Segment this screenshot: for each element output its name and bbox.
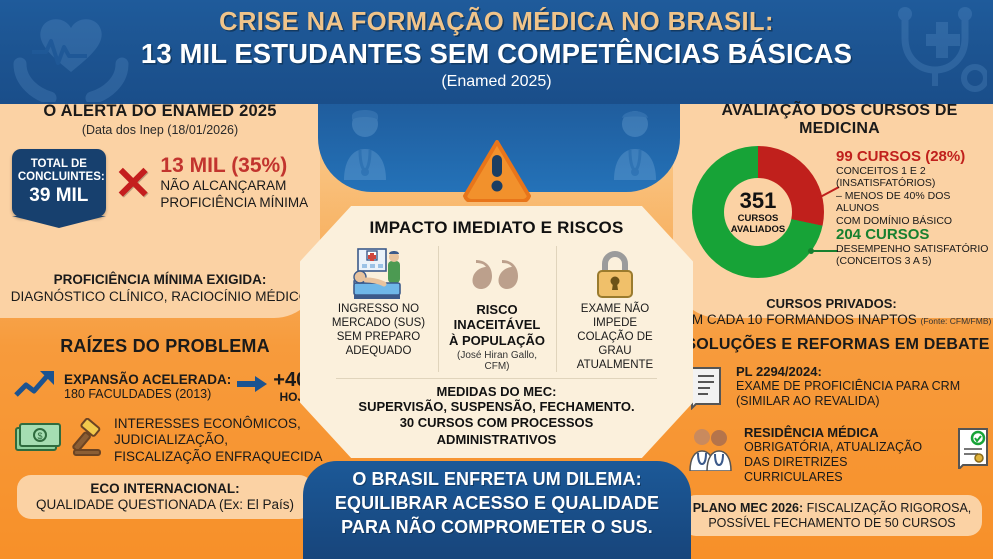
plano-strong: PLANO MEC 2026: <box>693 501 803 515</box>
proficiencia-body: DIAGNÓSTICO CLÍNICO, RACIOCÍNIO MÉDICO <box>0 289 320 304</box>
ingresso-line1: INGRESSO NO <box>325 302 433 316</box>
eco-body: QUALIDADE QUESTIONADA (Ex: El País) <box>25 497 305 512</box>
conclusion-line3: PARA NÃO COMPROMETER O SUS. <box>303 516 691 540</box>
pl-line2: (SIMILAR AO REVALIDA) <box>736 394 960 409</box>
legend-green-label: 204 CURSOS <box>836 226 988 243</box>
raizes-expansao-row: EXPANSÃO ACELERADA: 180 FACULDADES (2013… <box>0 367 330 406</box>
risco-line3: À POPULAÇÃO <box>444 333 551 348</box>
proficiencia-title: PROFICIÊNCIA MÍNIMA EXIGIDA: <box>0 272 320 287</box>
donut-red-marker <box>810 188 816 194</box>
eco-internacional-pill: ECO INTERNACIONAL: QUALIDADE QUESTIONADA… <box>17 475 313 519</box>
total-concluintes-badge: TOTAL DE CONCLUINTES: 39 MIL <box>12 149 106 217</box>
conclusion-banner: O BRASIL ENFRETA UM DILEMA: EQUILIBRAR A… <box>303 461 691 559</box>
impacto-col-risco: RISCO INACEITÁVEL À POPULAÇÃO (José Hira… <box>438 246 556 372</box>
mec-line1: SUPERVISÃO, SUSPENSÃO, FECHAMENTO. <box>314 399 679 415</box>
risco-cite: (José Hiran Gallo, CFM) <box>444 350 551 372</box>
ingresso-line4: ADEQUADO <box>325 344 433 358</box>
impacto-col-exame: EXAME NÃO IMPEDE COLAÇÃO DE GRAU ATUALME… <box>556 246 674 372</box>
cursos-privados-block: CURSOS PRIVADOS: 4 EM CADA 10 FORMANDOS … <box>670 296 993 327</box>
alerta-source: (Data dos Inep (18/01/2026) <box>0 123 320 137</box>
pl-line1: EXAME DE PROFICIÊNCIA PARA CRM <box>736 379 960 394</box>
padlock-icon <box>562 246 669 302</box>
alerta-stat-row: TOTAL DE CONCLUINTES: 39 MIL ✕ 13 MIL (3… <box>0 149 320 217</box>
avaliacao-heading: AVALIAÇÃO DOS CURSOS DE MEDICINA <box>670 102 993 138</box>
impacto-heading: IMPACTO IMEDIATO E RISCOS <box>314 218 679 238</box>
mec-title: MEDIDAS DO MEC: <box>314 384 679 399</box>
badge-value: 39 MIL <box>18 185 100 207</box>
interesses-line2: JUDICIALIZAÇÃO, <box>114 432 323 448</box>
donut-total-value: 351 <box>740 190 777 212</box>
legend-green-note1: DESEMPENHO SATISFATÓRIO <box>836 243 988 255</box>
solucao-residencia-text: RESIDÊNCIA MÉDICA OBRIGATÓRIA, ATUALIZAÇ… <box>744 425 947 485</box>
residencia-line2: DAS DIRETRIZES CURRICULARES <box>744 455 947 485</box>
eco-title: ECO INTERNACIONAL: <box>25 481 305 496</box>
section-alerta-enamed: O ALERTA DO ENAMED 2025 (Data dos Inep (… <box>0 102 320 217</box>
warning-triangle-icon <box>463 140 531 207</box>
ingresso-line3: SEM PREPARO <box>325 330 433 344</box>
page-title-line1: CRISE NA FORMAÇÃO MÉDICA NO BRASIL: <box>0 8 993 36</box>
alerta-highlight-sub2: PROFICIÊNCIA MÍNIMA <box>160 195 308 211</box>
page-title-line2: 13 MIL ESTUDANTES SEM COMPETÊNCIAS BÁSIC… <box>0 38 993 70</box>
raizes-expansao-text: EXPANSÃO ACELERADA: 180 FACULDADES (2013… <box>64 372 231 401</box>
raizes-interesses-row: $ INTERESSES ECONÔMICOS, JUDICIALIZAÇÃO,… <box>0 416 330 465</box>
donut-green-leader-line <box>812 250 838 252</box>
section-impacto-riscos: IMPACTO IMEDIATO E RISCOS <box>300 206 693 458</box>
raizes-heading: RAÍZES DO PROBLEMA <box>0 336 330 357</box>
gavel-icon <box>68 418 108 463</box>
plano-line2: POSSÍVEL FECHAMENTO DE 50 CURSOS <box>690 516 974 530</box>
conclusion-line2: EQUILIBRAR ACESSO E QUALIDADE <box>303 492 691 516</box>
donut-total-label2: AVALIADOS <box>731 224 786 235</box>
header-banner: CRISE NA FORMAÇÃO MÉDICA NO BRASIL: 13 M… <box>0 0 993 104</box>
interesses-line3: FISCALIZAÇÃO ENFRAQUECIDA <box>114 449 323 465</box>
right-arrow-icon <box>237 376 267 397</box>
medidas-mec-block: MEDIDAS DO MEC: SUPERVISÃO, SUSPENSÃO, F… <box>314 384 679 448</box>
alerta-heading: O ALERTA DO ENAMED 2025 <box>0 102 320 121</box>
section-proficiencia: PROFICIÊNCIA MÍNIMA EXIGIDA: DIAGNÓSTICO… <box>0 272 320 304</box>
legend-red-label: 99 CURSOS (28%) <box>836 148 993 165</box>
money-bills-icon: $ <box>14 418 62 463</box>
legend-red-note2: (INSATISFATÓRIOS) <box>836 177 993 189</box>
svg-text:$: $ <box>37 431 42 441</box>
raizes-interesses-text: INTERESSES ECONÔMICOS, JUDICIALIZAÇÃO, F… <box>114 416 323 465</box>
alerta-highlight: 13 MIL (35%) <box>160 155 308 177</box>
infographic-root: CRISE NA FORMAÇÃO MÉDICA NO BRASIL: 13 M… <box>0 0 993 559</box>
section-solucoes-reformas: SOLUÇÕES E REFORMAS EM DEBATE PL 2294/20… <box>670 336 993 536</box>
residencia-title: RESIDÊNCIA MÉDICA <box>744 425 947 440</box>
interesses-line1: INTERESSES ECONÔMICOS, <box>114 416 323 432</box>
solucao-item-residencia: RESIDÊNCIA MÉDICA OBRIGATÓRIA, ATUALIZAÇ… <box>670 425 993 485</box>
exame-line2: COLAÇÃO DE GRAU <box>562 330 669 358</box>
female-doctor-silhouette-icon <box>334 106 396 185</box>
ingresso-line2: MERCADO (SUS) <box>325 316 433 330</box>
quote-mark-icon <box>444 246 551 302</box>
x-mark-icon: ✕ <box>114 160 153 206</box>
expansao-sub: 180 FACULDADES (2013) <box>64 387 231 401</box>
legend-item-insatisfatorios: 99 CURSOS (28%) CONCEITOS 1 E 2 (INSATIS… <box>836 148 993 227</box>
certificate-icon <box>955 425 993 474</box>
alerta-highlight-sub1: NÃO ALCANÇARAM <box>160 178 308 194</box>
badge-label: TOTAL DE CONCLUINTES: <box>18 158 100 184</box>
solucoes-heading: SOLUÇÕES E REFORMAS EM DEBATE <box>670 336 993 354</box>
plano-line1: PLANO MEC 2026: FISCALIZAÇÃO RIGOROSA, <box>690 501 974 515</box>
donut-ring: 351 CURSOS AVALIADOS <box>692 146 824 278</box>
impacto-divider <box>336 378 657 379</box>
legend-red-note3: – MENOS DE 40% DOS ALUNOS <box>836 190 993 215</box>
two-doctors-icon <box>686 425 736 476</box>
risco-line2: INACEITÁVEL <box>444 317 551 332</box>
expansao-title: EXPANSÃO ACELERADA: <box>64 372 231 387</box>
exame-line3: ATUALMENTE <box>562 358 669 372</box>
impacto-col-ingresso: INGRESSO NO MERCADO (SUS) SEM PREPARO AD… <box>320 246 438 372</box>
solucao-pl-text: PL 2294/2024: EXAME DE PROFICIÊNCIA PARA… <box>736 364 960 409</box>
legend-green-note2: (CONCEITOS 3 A 5) <box>836 255 988 267</box>
privados-source: (Fonte: CFM/FMB) <box>920 316 991 326</box>
male-doctor-silhouette-icon <box>604 106 666 185</box>
exame-line1: EXAME NÃO IMPEDE <box>562 302 669 330</box>
risco-line1: RISCO <box>444 302 551 317</box>
privados-title: CURSOS PRIVADOS: <box>670 296 993 311</box>
mec-line2: 30 CURSOS COM PROCESSOS <box>314 415 679 431</box>
alerta-highlight-block: 13 MIL (35%) NÃO ALCANÇARAM PROFICIÊNCIA… <box>160 155 308 211</box>
plano-rest: FISCALIZAÇÃO RIGOROSA, <box>803 501 971 515</box>
residencia-line1: OBRIGATÓRIA, ATUALIZAÇÃO <box>744 440 947 455</box>
legend-red-note1: CONCEITOS 1 E 2 <box>836 165 993 177</box>
privados-body-text: 4 EM CADA 10 FORMANDOS INAPTOS <box>672 312 917 327</box>
donut-center-label: 351 CURSOS AVALIADOS <box>724 178 792 246</box>
impacto-columns: INGRESSO NO MERCADO (SUS) SEM PREPARO AD… <box>314 246 679 372</box>
pl-title: PL 2294/2024: <box>736 364 960 379</box>
donut-total-label1: CURSOS <box>738 213 779 224</box>
section-raizes-do-problema: RAÍZES DO PROBLEMA EXPANSÃO ACELERADA: 1… <box>0 336 330 519</box>
privados-body: 4 EM CADA 10 FORMANDOS INAPTOS (Fonte: C… <box>670 312 993 327</box>
page-subtitle: (Enamed 2025) <box>0 73 993 91</box>
plano-mec-pill: PLANO MEC 2026: FISCALIZAÇÃO RIGOROSA, P… <box>682 495 982 536</box>
solucao-item-pl: PL 2294/2024: EXAME DE PROFICIÊNCIA PARA… <box>670 364 993 415</box>
trending-up-arrow-icon <box>14 367 58 406</box>
mec-line3: ADMINISTRATIVOS <box>314 432 679 448</box>
hospital-patient-bed-icon <box>325 246 433 302</box>
section-avaliacao-cursos: AVALIAÇÃO DOS CURSOS DE MEDICINA 351 CUR… <box>670 102 993 327</box>
donut-chart: 351 CURSOS AVALIADOS 99 CURSOS (28%) CON… <box>670 144 993 294</box>
legend-item-satisfatorios: 204 CURSOS DESEMPENHO SATISFATÓRIO (CONC… <box>836 226 988 268</box>
conclusion-line1: O BRASIL ENFRETA UM DILEMA: <box>303 468 691 492</box>
